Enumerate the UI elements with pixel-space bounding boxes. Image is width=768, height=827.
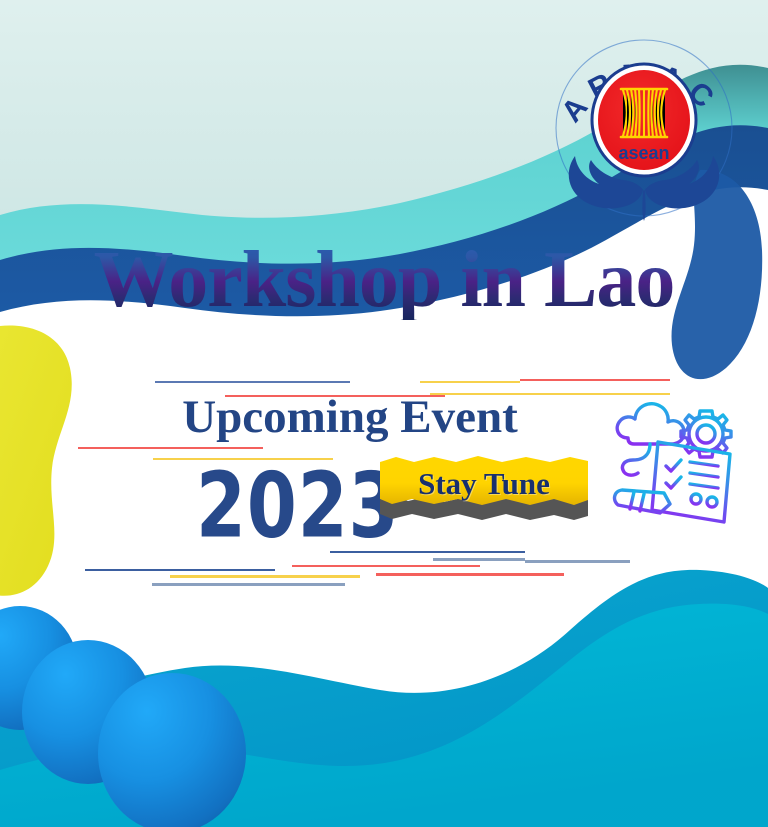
decorative-line: [78, 447, 263, 449]
armac-logo: ARMAC: [549, 28, 739, 228]
decorative-line: [152, 583, 345, 586]
poster-canvas: ARMAC: [0, 0, 768, 827]
sphere-decoration-2: [22, 640, 154, 784]
decorative-line: [525, 560, 630, 563]
event-year: 2023: [196, 455, 399, 559]
decorative-line: [292, 565, 480, 567]
asean-emblem: asean: [592, 64, 696, 176]
decorative-line: [85, 569, 275, 571]
decorative-line: [170, 575, 360, 578]
decorative-line: [376, 573, 564, 576]
sphere-decoration-3: [98, 673, 246, 827]
armac-logo-svg: ARMAC: [549, 28, 739, 228]
cloud-gear-checklist-pencil-icon: [608, 392, 748, 542]
decorative-line: [155, 381, 350, 383]
page-title: Workshop in Lao: [0, 240, 768, 320]
decorative-line: [420, 381, 520, 383]
asean-label: asean: [618, 143, 669, 163]
event-subtitle: Upcoming Event: [130, 390, 570, 444]
sphere-decoration-1: [0, 606, 78, 730]
decorative-line: [433, 558, 525, 561]
stay-tune-badge: Stay Tune: [378, 452, 590, 524]
decorative-line: [520, 379, 670, 381]
stay-tune-label: Stay Tune: [378, 466, 590, 502]
rice-stalk-icon: [621, 89, 667, 137]
